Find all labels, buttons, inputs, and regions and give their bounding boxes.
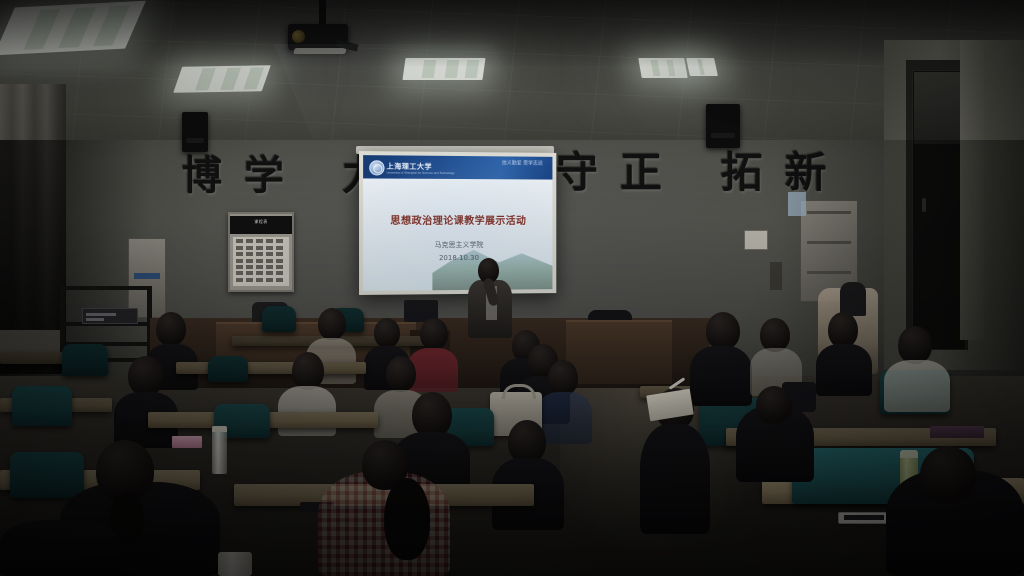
person-body <box>816 344 872 396</box>
person-head <box>420 318 448 350</box>
presentation-slide: 上海理工大学 University of Shanghai for Scienc… <box>363 155 552 291</box>
person-head <box>156 312 186 346</box>
notice-board-body <box>233 237 289 286</box>
notice-board-header-text: 课程表 <box>230 219 292 225</box>
av-receiver-icon <box>82 308 138 324</box>
chair-row2-a[interactable] <box>62 344 108 376</box>
person-head <box>760 318 790 352</box>
wall-control-panel[interactable] <box>744 230 768 250</box>
notice-row <box>236 265 286 269</box>
person-body <box>0 520 120 576</box>
door-transom-window <box>914 72 962 144</box>
handbag-handle <box>502 384 536 399</box>
chair-row4-a[interactable] <box>10 452 84 498</box>
person-body <box>884 360 950 412</box>
slide-date: 2018.10.30 <box>363 254 552 263</box>
notice-row <box>236 239 286 243</box>
desk-row2-left <box>176 362 366 374</box>
notice-row <box>236 271 286 275</box>
notice-row <box>236 259 286 263</box>
person-head <box>756 386 792 424</box>
person-head <box>128 356 164 396</box>
person-head <box>548 360 578 396</box>
notice-row <box>236 246 286 250</box>
notice-row <box>236 278 286 282</box>
water-bottle-cap <box>212 426 227 432</box>
white-smartphone[interactable] <box>838 512 892 524</box>
slide-department: 马克思主义学院 <box>363 240 552 251</box>
chair-row2-b[interactable] <box>208 356 248 382</box>
notice-board: 课程表 <box>228 212 294 292</box>
book-stack[interactable] <box>930 426 984 438</box>
person-head <box>318 308 346 340</box>
pink-notebook[interactable] <box>172 436 202 448</box>
person-body <box>278 386 336 436</box>
slide-title: 思想政治理论课教学展示活动 <box>363 212 552 227</box>
speaker-icon-right <box>706 104 740 148</box>
notice-row <box>236 252 286 256</box>
person-head <box>374 318 400 348</box>
person-body <box>690 346 752 406</box>
white-cup[interactable] <box>218 552 252 576</box>
hanging-dark-coat <box>840 282 866 316</box>
person-head <box>386 356 416 392</box>
person-head <box>292 352 324 390</box>
slide-university-name-en: University of Shanghai for Science and T… <box>387 170 455 174</box>
chair-row1-a[interactable] <box>262 306 296 332</box>
speaker-icon-left <box>182 112 208 152</box>
person-head <box>920 446 976 504</box>
ceiling-shading <box>0 0 1024 150</box>
podium <box>566 320 672 384</box>
university-emblem-icon <box>369 160 384 175</box>
person-head <box>898 326 932 364</box>
classroom-scene: 博学 力行 守正 拓新 课程表 上海理工大学 University of Sha… <box>0 0 1024 576</box>
person-head <box>828 312 858 348</box>
person-head <box>706 312 740 350</box>
projection-screen[interactable]: 上海理工大学 University of Shanghai for Scienc… <box>359 151 556 295</box>
notice-board-header: 课程表 <box>230 216 292 234</box>
clear-water-bottle[interactable] <box>212 430 227 474</box>
slide-header-motto: 信义勤爱 思学志远 <box>502 160 543 168</box>
chair-row3-a[interactable] <box>12 386 72 426</box>
person-body <box>640 424 710 534</box>
thermos-cap <box>900 450 918 458</box>
person-ponytail <box>384 478 430 560</box>
